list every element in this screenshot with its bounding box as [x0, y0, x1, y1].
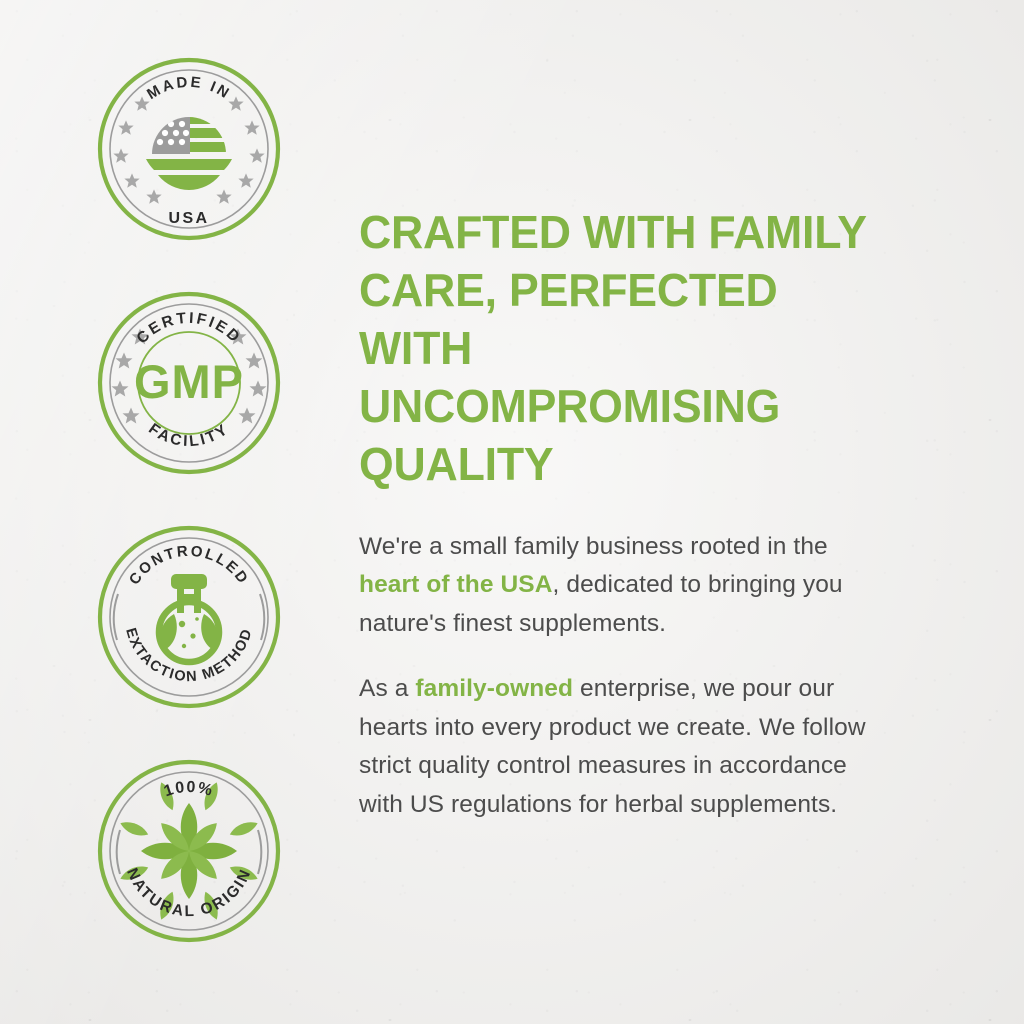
leaf-rosette-icon: [118, 780, 259, 921]
body-paragraph-1: We're a small family business rooted in …: [359, 528, 879, 644]
badge-center-text: GMP: [134, 355, 244, 408]
badge-bottom-text: FACILITY: [145, 420, 232, 450]
badge-top-text: MADE IN: [144, 74, 234, 103]
badge-left-arc: [114, 594, 118, 640]
badge-bottom-text: EXTACTION METHOD: [122, 626, 256, 685]
badge-bottom-text: USA: [169, 210, 210, 227]
paragraph-text: We're a small family business rooted in …: [359, 533, 828, 560]
badge-natural-origin: 100% NATURAL ORIGIN: [96, 758, 282, 944]
badge-controlled-extaction-method: CONTROLLED EXTACTION METHOD: [96, 524, 282, 710]
content-column: CRAFTED WITH FAMILY CARE, PERFECTED WITH…: [359, 204, 919, 825]
badge-top-text: 100%: [162, 779, 216, 800]
infographic-page: MADE IN USA: [0, 0, 1024, 1024]
badge-right-arc: [260, 594, 264, 640]
badge-right-arc: [258, 830, 261, 874]
certification-badge-column: MADE IN USA: [96, 56, 286, 992]
emphasis-text: heart of the USA: [359, 571, 553, 598]
usa-flag-dome-icon: [146, 114, 232, 190]
paragraph-text: As a: [359, 675, 415, 702]
flask-leaf-icon: [159, 574, 219, 662]
badge-gmp-certified-facility: GMP CERTIFIED FACILITY: [96, 290, 282, 476]
badge-top-text: CERTIFIED: [134, 310, 245, 348]
emphasis-text: family-owned: [415, 675, 573, 702]
badge-left-arc: [117, 830, 120, 874]
body-paragraph-2: As a family-owned enterprise, we pour ou…: [359, 670, 879, 825]
page-headline: CRAFTED WITH FAMILY CARE, PERFECTED WITH…: [359, 204, 902, 494]
badge-made-in-usa: MADE IN USA: [96, 56, 282, 242]
